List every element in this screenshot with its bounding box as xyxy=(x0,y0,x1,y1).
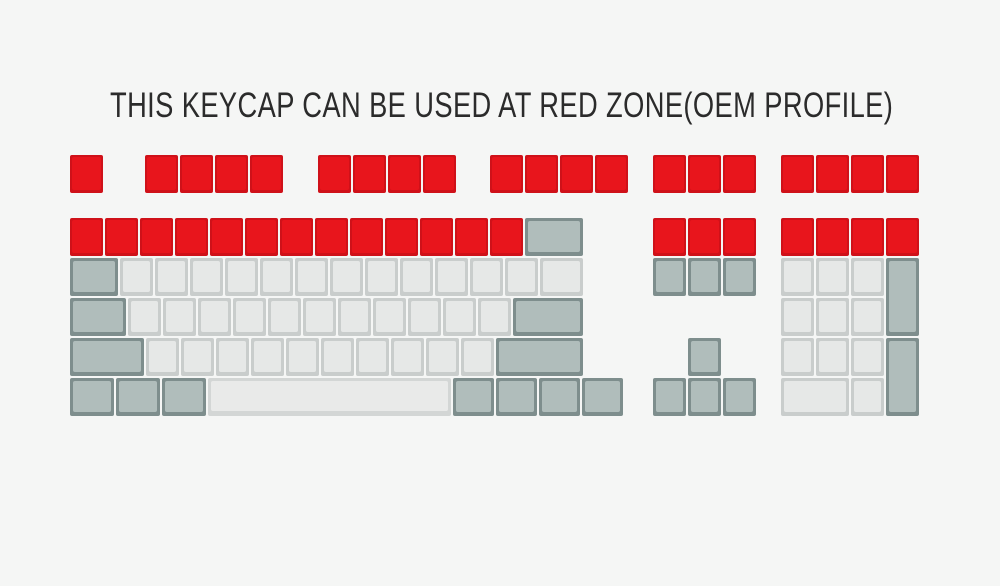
key-num-lock-main[interactable] xyxy=(781,218,814,256)
key-numpad-subtract-main[interactable] xyxy=(886,218,919,256)
key-tab[interactable] xyxy=(70,258,118,296)
key-numpad-7[interactable] xyxy=(781,258,814,296)
diagram-canvas: THIS KEYCAP CAN BE USED AT RED ZONE(OEM … xyxy=(0,0,1000,586)
key-semicolon[interactable] xyxy=(443,298,476,336)
key-numpad-decimal[interactable] xyxy=(851,378,884,416)
key-digit-5[interactable] xyxy=(245,218,278,256)
key-home[interactable] xyxy=(688,218,721,256)
key-numpad-add[interactable] xyxy=(886,258,919,336)
key-numpad-0[interactable] xyxy=(781,378,849,416)
key-numpad-divide-main[interactable] xyxy=(816,218,849,256)
key-control-left[interactable] xyxy=(70,378,114,416)
key-key-d[interactable] xyxy=(198,298,231,336)
key-key-f[interactable] xyxy=(233,298,266,336)
key-key-t[interactable] xyxy=(260,258,293,296)
key-f2[interactable] xyxy=(180,155,213,193)
key-end[interactable] xyxy=(688,258,721,296)
key-numpad-divide[interactable] xyxy=(816,155,849,193)
key-key-e[interactable] xyxy=(190,258,223,296)
key-numpad-4[interactable] xyxy=(781,298,814,336)
key-f11[interactable] xyxy=(560,155,593,193)
key-pause-break[interactable] xyxy=(723,155,756,193)
key-backquote[interactable] xyxy=(70,218,103,256)
key-scroll-lock[interactable] xyxy=(688,155,721,193)
key-meta-left[interactable] xyxy=(116,378,160,416)
key-esc[interactable] xyxy=(70,155,103,193)
key-digit-0[interactable] xyxy=(420,218,453,256)
key-numpad-6[interactable] xyxy=(851,298,884,336)
key-key-w[interactable] xyxy=(155,258,188,296)
key-enter[interactable] xyxy=(513,298,583,336)
key-key-z[interactable] xyxy=(146,338,179,376)
key-key-a[interactable] xyxy=(128,298,161,336)
key-bracket-right[interactable] xyxy=(505,258,538,296)
key-backslash[interactable] xyxy=(540,258,583,296)
key-equal[interactable] xyxy=(490,218,523,256)
key-key-b[interactable] xyxy=(286,338,319,376)
key-digit-2[interactable] xyxy=(140,218,173,256)
key-digit-9[interactable] xyxy=(385,218,418,256)
key-key-p[interactable] xyxy=(435,258,468,296)
key-key-q[interactable] xyxy=(120,258,153,296)
key-digit-8[interactable] xyxy=(350,218,383,256)
key-numpad-enter[interactable] xyxy=(886,338,919,416)
key-key-s[interactable] xyxy=(163,298,196,336)
key-key-o[interactable] xyxy=(400,258,433,296)
key-numpad-2[interactable] xyxy=(816,338,849,376)
key-f9[interactable] xyxy=(490,155,523,193)
key-numpad-1[interactable] xyxy=(781,338,814,376)
key-numpad-multiply[interactable] xyxy=(851,155,884,193)
key-key-n[interactable] xyxy=(321,338,354,376)
key-numpad-8[interactable] xyxy=(816,258,849,296)
key-key-g[interactable] xyxy=(268,298,301,336)
key-key-v[interactable] xyxy=(251,338,284,376)
key-print-screen[interactable] xyxy=(653,155,686,193)
key-bracket-left[interactable] xyxy=(470,258,503,296)
key-key-h[interactable] xyxy=(303,298,336,336)
key-slash[interactable] xyxy=(461,338,494,376)
key-key-m[interactable] xyxy=(356,338,389,376)
key-space[interactable] xyxy=(208,378,451,416)
key-meta-right[interactable] xyxy=(496,378,537,416)
key-f5[interactable] xyxy=(318,155,351,193)
key-key-j[interactable] xyxy=(338,298,371,336)
key-shift-left[interactable] xyxy=(70,338,144,376)
key-page-up[interactable] xyxy=(723,218,756,256)
key-alt-right[interactable] xyxy=(453,378,494,416)
key-key-c[interactable] xyxy=(216,338,249,376)
key-num-lock[interactable] xyxy=(781,155,814,193)
key-minus[interactable] xyxy=(455,218,488,256)
key-numpad-3[interactable] xyxy=(851,338,884,376)
key-control-right[interactable] xyxy=(582,378,623,416)
key-period[interactable] xyxy=(426,338,459,376)
key-delete[interactable] xyxy=(653,258,686,296)
key-key-l[interactable] xyxy=(408,298,441,336)
key-arrow-down[interactable] xyxy=(688,378,721,416)
key-alt-left[interactable] xyxy=(162,378,206,416)
key-digit-7[interactable] xyxy=(315,218,348,256)
key-menu[interactable] xyxy=(539,378,580,416)
key-numpad-subtract[interactable] xyxy=(886,155,919,193)
key-key-r[interactable] xyxy=(225,258,258,296)
key-f10[interactable] xyxy=(525,155,558,193)
key-f12[interactable] xyxy=(595,155,628,193)
key-shift-right[interactable] xyxy=(496,338,583,376)
key-arrow-left[interactable] xyxy=(653,378,686,416)
key-numpad-9[interactable] xyxy=(851,258,884,296)
key-f7[interactable] xyxy=(388,155,421,193)
key-digit-1[interactable] xyxy=(105,218,138,256)
key-backspace[interactable] xyxy=(525,218,583,256)
key-digit-4[interactable] xyxy=(210,218,243,256)
key-comma[interactable] xyxy=(391,338,424,376)
key-caps-lock[interactable] xyxy=(70,298,126,336)
key-f1[interactable] xyxy=(145,155,178,193)
key-digit-3[interactable] xyxy=(175,218,208,256)
key-f6[interactable] xyxy=(353,155,386,193)
key-numpad-multiply-main[interactable] xyxy=(851,218,884,256)
key-f4[interactable] xyxy=(250,155,283,193)
key-page-down[interactable] xyxy=(723,258,756,296)
key-insert[interactable] xyxy=(653,218,686,256)
key-arrow-right[interactable] xyxy=(723,378,756,416)
key-key-y[interactable] xyxy=(295,258,328,296)
key-f3[interactable] xyxy=(215,155,248,193)
key-f8[interactable] xyxy=(423,155,456,193)
key-key-k[interactable] xyxy=(373,298,406,336)
key-key-u[interactable] xyxy=(330,258,363,296)
key-key-i[interactable] xyxy=(365,258,398,296)
key-arrow-up[interactable] xyxy=(688,338,721,376)
key-quote[interactable] xyxy=(478,298,511,336)
key-key-x[interactable] xyxy=(181,338,214,376)
key-numpad-5[interactable] xyxy=(816,298,849,336)
keyboard-diagram xyxy=(0,0,1000,586)
key-digit-6[interactable] xyxy=(280,218,313,256)
